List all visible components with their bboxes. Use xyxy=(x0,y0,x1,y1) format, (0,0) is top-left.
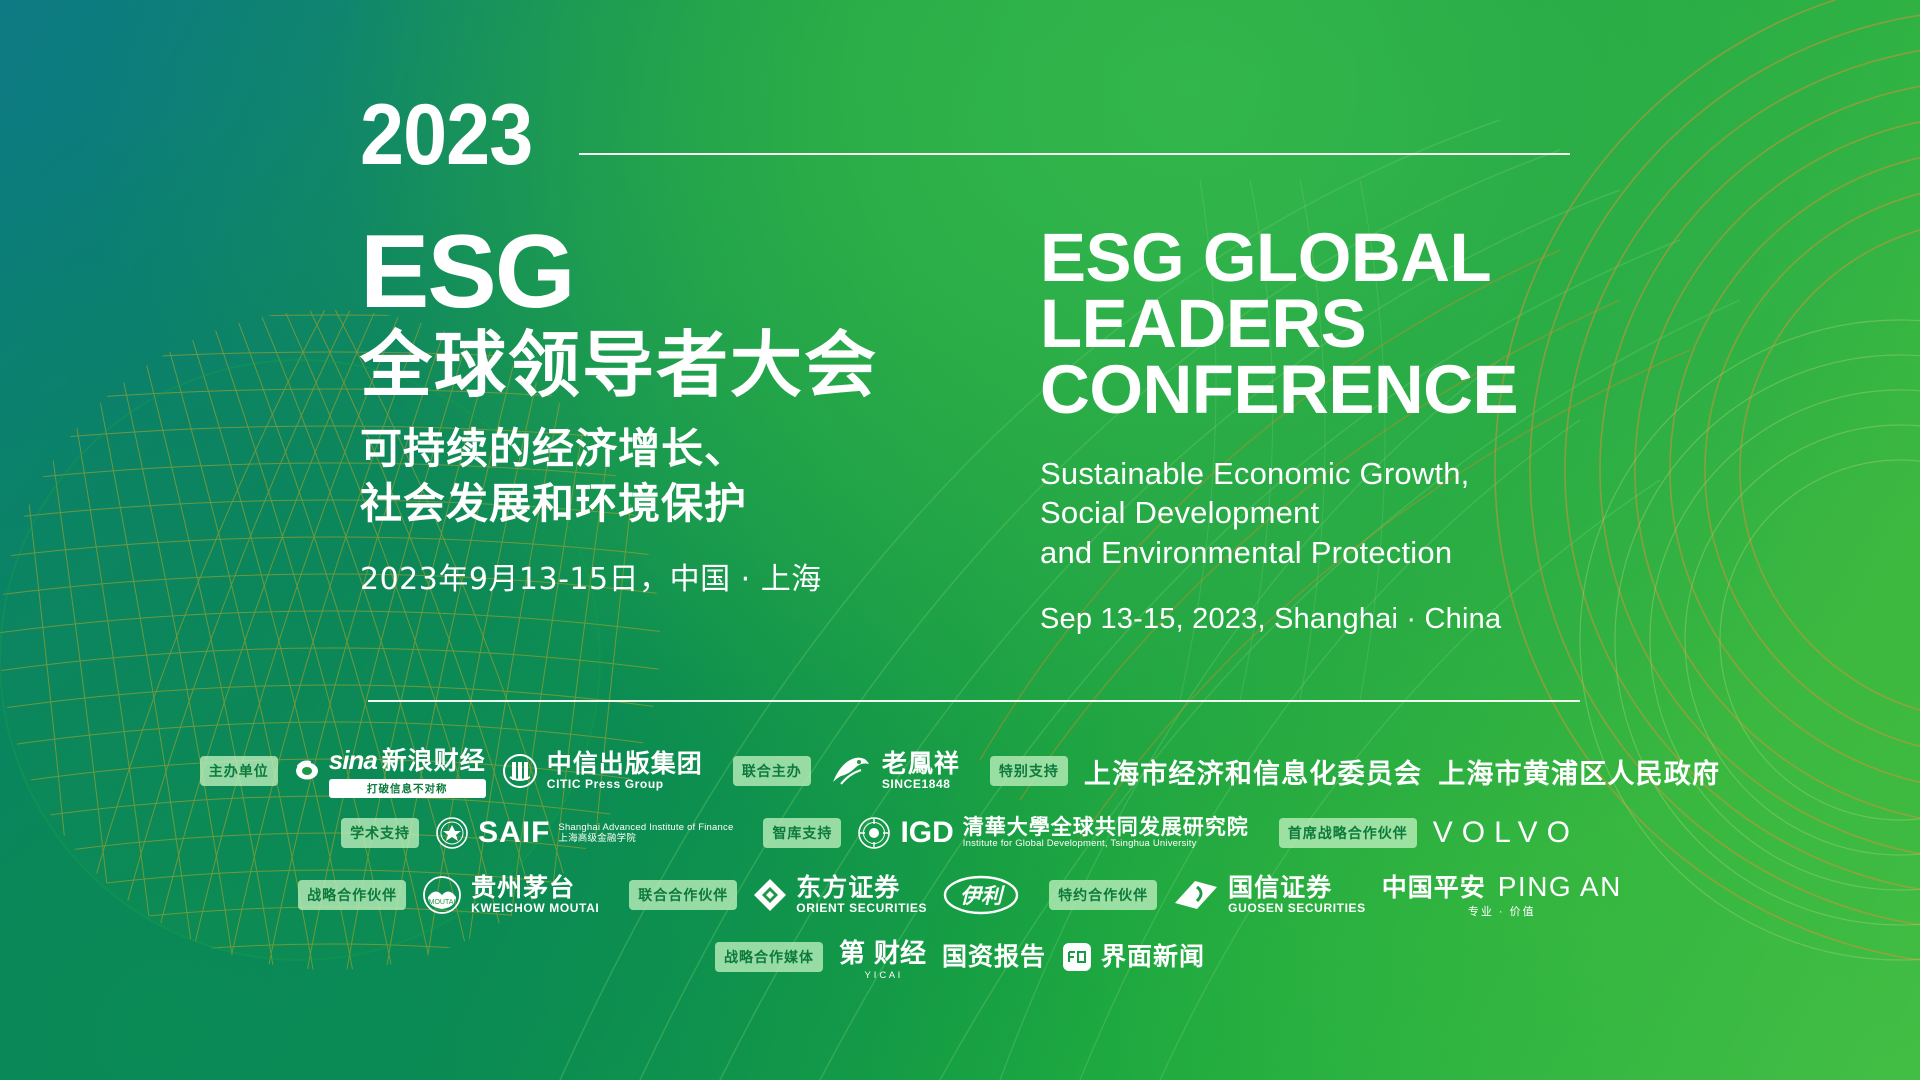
conference-poster: 2023 ESG 全球领导者大会 可持续的经济增长、 社会发展和环境保护 202… xyxy=(0,0,1920,1080)
ping-an-wordmark: PING AN xyxy=(1498,871,1622,903)
logo-guosen-securities[interactable]: 国信证券 GUOSEN SECURITIES xyxy=(1173,875,1366,916)
english-subtitle-line-3: and Environmental Protection xyxy=(1040,533,1580,573)
sponsor-row: 学术支持 SAIF Shanghai Advanced Institute of… xyxy=(0,802,1920,864)
year-row: 2023 xyxy=(360,95,1570,177)
year-label: 2023 xyxy=(360,95,532,177)
jiemian-square-icon xyxy=(1062,942,1092,972)
english-subtitle-line-2: Social Development xyxy=(1040,493,1580,533)
sponsor-row: 主办单位 sina 新浪财经 打破信息不对称 xyxy=(0,740,1920,802)
logo-citic-press[interactable]: 中信出版集团 CITIC Press Group xyxy=(502,751,703,792)
citic-press-en: CITIC Press Group xyxy=(547,777,703,791)
section-divider xyxy=(368,700,1580,702)
sponsor-tag-co-organizer: 联合主办 xyxy=(733,756,811,786)
logo-huangpu-district-government[interactable]: 上海市黄浦区人民政府 xyxy=(1438,752,1720,791)
guosen-securities-cn: 国信证券 xyxy=(1228,875,1366,901)
sina-slogan: 打破信息不对称 xyxy=(329,779,486,798)
igd-wordmark: IGD xyxy=(900,816,953,850)
sponsor-group-academic-support: 学术支持 SAIF Shanghai Advanced Institute of… xyxy=(341,816,733,850)
esg-wordmark: ESG xyxy=(360,225,1040,321)
logo-guozi-report[interactable]: 国资报告 xyxy=(942,944,1046,970)
sponsor-tag-strategic-partner: 战略合作伙伴 xyxy=(298,880,406,910)
sponsor-group-strategic-partner: 战略合作伙伴 MOUTAI 贵州茅台 KWEICHOW MOUTAI xyxy=(298,875,599,916)
svg-text:MOUTAI: MOUTAI xyxy=(429,899,456,906)
sina-wordmark: sina xyxy=(329,745,377,776)
sponsor-tag-strategic-media: 战略合作媒体 xyxy=(715,942,823,972)
logo-igd-tsinghua[interactable]: IGD 清華大學全球共同发展研究院 Institute for Global D… xyxy=(857,816,1248,850)
saif-cn: 上海高级金融学院 xyxy=(558,833,733,844)
chinese-title-block: ESG 全球领导者大会 可持续的经济增长、 社会发展和环境保护 2023年9月1… xyxy=(360,225,1040,636)
chinese-subtitle-line-2: 社会发展和环境保护 xyxy=(360,476,1040,531)
lao-feng-xiang-since: SINCE1848 xyxy=(882,777,960,791)
saif-en: Shanghai Advanced Institute of Finance xyxy=(558,822,733,833)
logo-kweichow-moutai[interactable]: MOUTAI 贵州茅台 KWEICHOW MOUTAI xyxy=(422,875,599,916)
jiemian-news-cn: 界面新闻 xyxy=(1101,944,1205,970)
logo-volvo[interactable]: VOLVO xyxy=(1433,816,1579,850)
svg-text:伊利: 伊利 xyxy=(960,884,1005,908)
orient-securities-diamond-icon xyxy=(753,878,787,912)
sponsor-group-organizers: 主办单位 sina 新浪财经 打破信息不对称 xyxy=(200,745,703,798)
citic-press-cn: 中信出版集团 xyxy=(547,751,703,777)
yicai-cn: 第 财经 xyxy=(839,933,926,970)
sponsor-row: 战略合作伙伴 MOUTAI 贵州茅台 KWEICHOW MOUTAI xyxy=(0,864,1920,926)
lao-feng-xiang-cn: 老鳳祥 xyxy=(882,751,960,777)
logo-shanghai-economy-it-commission[interactable]: 上海市经济和信息化委员会 xyxy=(1084,752,1422,791)
chinese-date-location: 2023年9月13-15日，中国 · 上海 xyxy=(360,554,1040,598)
sponsor-group-co-organizer: 联合主办 老鳳祥 SINCE1848 xyxy=(733,751,960,792)
logo-yili[interactable]: 伊利 xyxy=(943,875,1019,915)
saif-wordmark: SAIF xyxy=(478,816,550,850)
yicai-en: Y I C A I xyxy=(865,970,901,981)
english-conference-title: ESG GLOBAL LEADERS CONFERENCE xyxy=(1040,225,1580,424)
igd-cn: 清華大學全球共同发展研究院 xyxy=(963,816,1249,838)
guosen-ribbon-icon xyxy=(1173,877,1219,913)
poster-content: 2023 ESG 全球领导者大会 可持续的经济增长、 社会发展和环境保护 202… xyxy=(0,0,1920,1080)
logo-saif[interactable]: SAIF Shanghai Advanced Institute of Fina… xyxy=(435,816,733,850)
english-title-line-3: CONFERENCE xyxy=(1040,357,1580,423)
sponsor-group-joint-partner: 联合合作伙伴 东方证券 ORIENT SECURITIES xyxy=(629,875,1019,916)
sponsor-tag-joint-partner: 联合合作伙伴 xyxy=(629,880,737,910)
orient-securities-cn: 东方证券 xyxy=(796,875,927,901)
orient-securities-en: ORIENT SECURITIES xyxy=(796,901,927,915)
sponsor-tag-think-tank-support: 智库支持 xyxy=(763,818,841,848)
sponsor-group-special-partner: 特约合作伙伴 国信证券 GUOSEN SECURITIES xyxy=(1049,871,1622,919)
tsinghua-seal-icon xyxy=(857,816,891,850)
sponsor-tag-chief-strategic-partner: 首席战略合作伙伴 xyxy=(1279,818,1417,848)
sina-finance-cn: 新浪财经 xyxy=(382,748,486,774)
sponsor-tag-organizer: 主办单位 xyxy=(200,756,278,786)
sponsor-group-think-tank-support: 智库支持 IGD 清華大學全球共同发展研究院 Institute for Glo… xyxy=(763,816,1248,850)
guozi-report-cn: 国资报告 xyxy=(942,944,1046,970)
chinese-conference-title: 全球领导者大会 xyxy=(360,327,1040,403)
phoenix-icon xyxy=(827,752,873,790)
english-subtitle: Sustainable Economic Growth, Social Deve… xyxy=(1040,454,1580,573)
guosen-securities-en: GUOSEN SECURITIES xyxy=(1228,901,1366,915)
logo-yicai[interactable]: 第 财经 Y I C A I xyxy=(839,933,926,981)
igd-en: Institute for Global Development, Tsingh… xyxy=(963,838,1249,849)
yili-oval-icon: 伊利 xyxy=(943,875,1019,915)
english-title-block: ESG GLOBAL LEADERS CONFERENCE Sustainabl… xyxy=(1040,225,1580,636)
english-title-line-2: LEADERS xyxy=(1040,291,1580,357)
header-rule xyxy=(579,153,1570,155)
moutai-en: KWEICHOW MOUTAI xyxy=(471,901,599,915)
ping-an-slogan: 专业 · 价值 xyxy=(1468,903,1536,919)
sponsor-tag-special-support: 特别支持 xyxy=(990,756,1068,786)
logo-orient-securities[interactable]: 东方证券 ORIENT SECURITIES xyxy=(753,875,927,916)
sponsor-tag-special-partner: 特约合作伙伴 xyxy=(1049,880,1157,910)
moutai-cn: 贵州茅台 xyxy=(471,875,599,901)
sponsor-tag-academic-support: 学术支持 xyxy=(341,818,419,848)
saif-seal-icon xyxy=(435,816,469,850)
sponsor-group-strategic-media: 战略合作媒体 第 财经 Y I C A I 国资报告 xyxy=(715,933,1205,981)
english-subtitle-line-1: Sustainable Economic Growth, xyxy=(1040,454,1580,494)
moutai-emblem-icon: MOUTAI xyxy=(422,875,462,915)
logo-sina-finance[interactable]: sina 新浪财经 打破信息不对称 xyxy=(294,745,486,798)
chinese-subtitle: 可持续的经济增长、 社会发展和环境保护 xyxy=(360,421,1040,532)
chinese-subtitle-line-1: 可持续的经济增长、 xyxy=(360,421,1040,476)
logo-lao-feng-xiang[interactable]: 老鳳祥 SINCE1848 xyxy=(827,751,960,792)
sponsor-section: 主办单位 sina 新浪财经 打破信息不对称 xyxy=(0,740,1920,988)
logo-jiemian-news[interactable]: 界面新闻 xyxy=(1062,942,1205,972)
logo-ping-an[interactable]: 中国平安 PING AN 专业 · 价值 xyxy=(1382,871,1622,919)
english-title-line-1: ESG GLOBAL xyxy=(1040,225,1580,291)
sina-eye-icon xyxy=(294,758,320,784)
citic-seal-icon xyxy=(502,753,538,789)
ping-an-cn: 中国平安 xyxy=(1382,875,1486,901)
english-date-location: Sep 13-15, 2023, Shanghai · China xyxy=(1040,603,1580,636)
sponsor-group-special-support: 特别支持 上海市经济和信息化委员会 上海市黄浦区人民政府 xyxy=(990,752,1720,791)
sponsor-group-chief-strategic-partner: 首席战略合作伙伴 VOLVO xyxy=(1279,816,1579,850)
title-columns: ESG 全球领导者大会 可持续的经济增长、 社会发展和环境保护 2023年9月1… xyxy=(360,225,1580,636)
sponsor-row: 战略合作媒体 第 财经 Y I C A I 国资报告 xyxy=(0,926,1920,988)
